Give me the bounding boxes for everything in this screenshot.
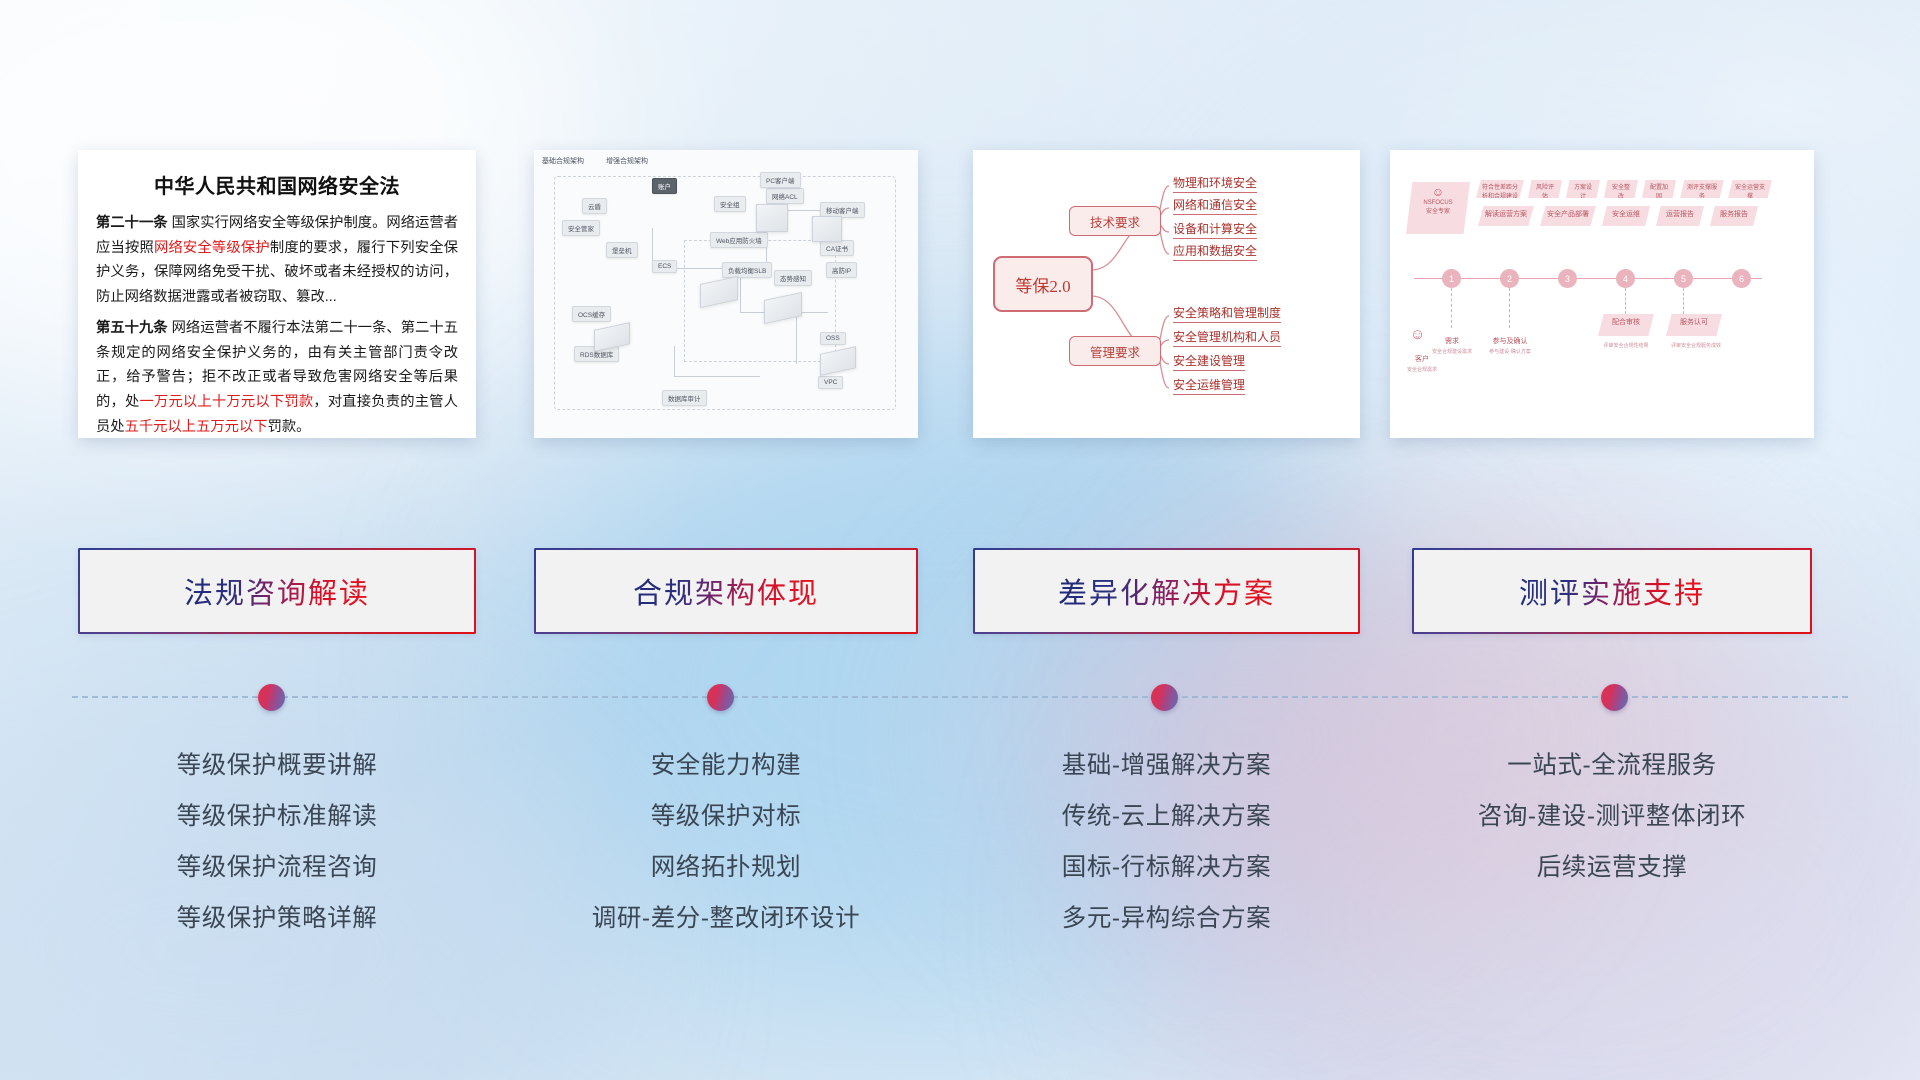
- column-compliance-architecture: 安全能力构建 等级保护对标 网络拓扑规划 调研-差分-整改闭环设计: [534, 740, 918, 944]
- card-compliance-architecture-diagram[interactable]: 基础合规架构 增强合规架构 账户 云盾 安全管家 堡垒机 安全组 网络ACL: [534, 150, 918, 438]
- mindmap-root-node: 等保2.0: [993, 256, 1093, 312]
- list-item: 调研-差分-整改闭环设计: [534, 893, 918, 944]
- arch-link-7: [796, 312, 797, 364]
- roadmap-top-4: 配置加固: [1642, 180, 1676, 198]
- detail-column-row: 等级保护概要讲解 等级保护标准解读 等级保护流程咨询 等级保护策略详解 安全能力…: [0, 740, 1920, 960]
- arch-node-title: 账户: [652, 178, 677, 194]
- roadmap-row-2: 安全运维: [1602, 206, 1650, 226]
- list-item: 传统-云上解决方案: [973, 791, 1360, 842]
- list-item: 咨询-建设-测评整体闭环: [1412, 791, 1812, 842]
- arch-shape-mobile: [812, 216, 842, 242]
- tab-label-2: 差异化解决方案: [1058, 570, 1275, 612]
- roadmap-drop-5: [1683, 288, 1684, 314]
- arch-shape-pc: [756, 204, 788, 232]
- law-title: 中华人民共和国网络安全法: [96, 170, 458, 199]
- roadmap-bottom-sub-3: 评审安全合规服务成效: [1656, 342, 1736, 349]
- arch-node-6: CA证书: [820, 240, 854, 256]
- mindmap-leaf-m1: 安全管理机构和人员: [1173, 328, 1281, 347]
- roadmap-drop-2: [1509, 288, 1510, 328]
- tab-label-3: 测评实施支持: [1519, 570, 1705, 612]
- mindmap-branch-management: 管理要求: [1069, 336, 1161, 366]
- mindmap-leaf-t1: 网络和通信安全: [1173, 196, 1257, 215]
- list-item: 等级保护标准解读: [78, 791, 476, 842]
- column-regulation-consulting: 等级保护概要讲解 等级保护标准解读 等级保护流程咨询 等级保护策略详解: [78, 740, 476, 944]
- architecture-diagram: 基础合规架构 增强合规架构 账户 云盾 安全管家 堡垒机 安全组 网络ACL: [534, 150, 918, 438]
- arch-node-0: 云盾: [582, 198, 607, 214]
- tab-assessment-support[interactable]: 测评实施支持: [1412, 548, 1812, 634]
- arch-header-basic: 基础合规架构: [542, 156, 584, 166]
- roadmap-top-1: 风险评估: [1528, 180, 1562, 198]
- law-article-59-text-c: 罚款。: [268, 419, 311, 435]
- roadmap-bottom-sub-2: 评审安全合规性结果: [1586, 342, 1666, 349]
- roadmap-row-3: 运营报告: [1656, 206, 1704, 226]
- law-article-21: 第二十一条 国家实行网络安全等级保护制度。网络运营者应当按照网络安全等级保护制度…: [96, 211, 458, 309]
- mindmap-branch-technical: 技术要求: [1069, 206, 1161, 236]
- list-item: 等级保护概要讲解: [78, 740, 476, 791]
- timeline-dot-3[interactable]: [1151, 684, 1178, 711]
- roadmap-top-5: 测评支撑服务: [1680, 180, 1724, 198]
- mindmap-leaf-m0: 安全策略和管理制度: [1173, 304, 1281, 323]
- roadmap-row-4: 服务报告: [1710, 206, 1758, 226]
- law-document: 中华人民共和国网络安全法 第二十一条 国家实行网络安全等级保护制度。网络运营者应…: [78, 150, 476, 438]
- customer-icon: ☺: [1410, 326, 1425, 343]
- arch-node-2: 堡垒机: [606, 242, 638, 258]
- tab-label-0: 法规咨询解读: [184, 570, 370, 612]
- mindmap-leaf-m3: 安全运维管理: [1173, 376, 1245, 395]
- preview-card-row: 中华人民共和国网络安全法 第二十一条 国家实行网络安全等级保护制度。网络运营者应…: [0, 150, 1920, 450]
- arch-node-15: 数据库审计: [662, 390, 707, 406]
- arch-node-4: 网络ACL: [766, 188, 804, 204]
- timeline: [0, 660, 1920, 720]
- arch-node-7: 高防IP: [826, 262, 857, 278]
- arch-node-12: VPC: [818, 376, 843, 389]
- arch-node-8: 态势感知: [774, 270, 812, 286]
- roadmap-diagram: ☺ NSFOCUS 安全专家 符合性差距分析和合规建设 风险评估 方案设计 安全…: [1390, 150, 1814, 438]
- roadmap-row-1: 安全产品部署: [1540, 206, 1596, 226]
- list-item: 等级保护流程咨询: [78, 842, 476, 893]
- tab-regulation-consulting[interactable]: 法规咨询解读: [78, 548, 476, 634]
- arch-link-9: [674, 376, 760, 377]
- arch-header-enhanced: 增强合规架构: [606, 156, 648, 166]
- column-assessment-support: 一站式-全流程服务 咨询-建设-测评整体闭环 后续运营支撑: [1412, 740, 1812, 893]
- roadmap-step-1: 1: [1442, 269, 1461, 288]
- roadmap-top-2: 方案设计: [1566, 180, 1600, 198]
- roadmap-bottom-title-1: 参与及确认: [1486, 336, 1534, 346]
- roadmap-bottom-title-3: 服务认可: [1666, 314, 1722, 336]
- roadmap-drop-4: [1625, 288, 1626, 314]
- person-star-icon: ☺: [1412, 186, 1464, 199]
- arch-node-13: OCS缓存: [572, 306, 611, 322]
- tab-row: 法规咨询解读 合规架构体现 差异化解决方案 测评实施支持: [0, 548, 1920, 634]
- list-item: 网络拓扑规划: [534, 842, 918, 893]
- roadmap-expert-line2: 安全专家: [1412, 208, 1464, 217]
- roadmap-customer-sub: 安全合规需求: [1396, 366, 1448, 373]
- page-root: 中华人民共和国网络安全法 第二十一条 国家实行网络安全等级保护制度。网络运营者应…: [0, 0, 1920, 1080]
- mindmap-leaf-t3: 应用和数据安全: [1173, 242, 1257, 261]
- list-item: 等级保护对标: [534, 791, 918, 842]
- roadmap-step-5: 5: [1674, 269, 1693, 288]
- law-article-21-highlight: 网络安全等级保护: [154, 240, 270, 256]
- column-differentiated-solution: 基础-增强解决方案 传统-云上解决方案 国标-行标解决方案 多元-异构综合方案: [973, 740, 1360, 944]
- tab-label-1: 合规架构体现: [633, 570, 819, 612]
- list-item: 国标-行标解决方案: [973, 842, 1360, 893]
- roadmap-expert-line1: NSFOCUS: [1412, 199, 1464, 208]
- roadmap-step-4: 4: [1616, 269, 1635, 288]
- tab-compliance-architecture[interactable]: 合规架构体现: [534, 548, 918, 634]
- roadmap-step-3: 3: [1558, 269, 1577, 288]
- law-article-59-highlight-2: 五千元以上五万元以下: [125, 419, 268, 435]
- law-article-59: 第五十九条 网络运营者不履行本法第二十一条、第二十五条规定的网络安全保护义务的，…: [96, 316, 458, 438]
- arch-node-1: 安全管家: [562, 220, 600, 236]
- mindmap-leaf-m2: 安全建设管理: [1173, 352, 1245, 371]
- roadmap-customer-label: 客户: [1402, 354, 1442, 364]
- timeline-dot-2[interactable]: [707, 684, 734, 711]
- mindmap-leaf-t2: 设备和计算安全: [1173, 220, 1257, 239]
- list-item: 多元-异构综合方案: [973, 893, 1360, 944]
- roadmap-top-0: 符合性差距分析和合规建设: [1476, 180, 1524, 198]
- list-item: 安全能力构建: [534, 740, 918, 791]
- law-article-59-label: 第五十九条: [96, 320, 168, 336]
- arch-node-10: 负载均衡SLB: [722, 262, 772, 278]
- arch-link-8: [674, 346, 675, 376]
- arch-node-16: PC客户端: [760, 172, 801, 188]
- roadmap-axis: [1414, 278, 1762, 279]
- roadmap-top-6: 安全运营支撑: [1728, 180, 1772, 198]
- timeline-dashed-line: [72, 696, 1848, 698]
- list-item: 基础-增强解决方案: [973, 740, 1360, 791]
- roadmap-bottom-sub-1: 参与建设·确认方案: [1478, 348, 1542, 355]
- mindmap-leaf-t0: 物理和环境安全: [1173, 174, 1257, 193]
- roadmap-step-2: 2: [1500, 269, 1519, 288]
- arch-node-11: OSS: [820, 332, 846, 345]
- law-article-59-highlight-1: 一万元以上十万元以下罚款: [139, 394, 313, 410]
- arch-node-5: Web应用防火墙: [710, 232, 768, 248]
- card-dengbao-mindmap[interactable]: 等保2.0 技术要求 管理要求 物理和环境安全 网络和通信安全 设备和计算安全 …: [973, 150, 1360, 438]
- card-nsfocus-roadmap[interactable]: ☺ NSFOCUS 安全专家 符合性差距分析和合规建设 风险评估 方案设计 安全…: [1390, 150, 1814, 438]
- roadmap-row-0: 解读运营方案: [1478, 206, 1534, 226]
- tab-differentiated-solution[interactable]: 差异化解决方案: [973, 548, 1360, 634]
- card-cybersecurity-law[interactable]: 中华人民共和国网络安全法 第二十一条 国家实行网络安全等级保护制度。网络运营者应…: [78, 150, 476, 438]
- timeline-dot-1[interactable]: [258, 684, 285, 711]
- timeline-dot-4[interactable]: [1601, 684, 1628, 711]
- roadmap-top-3: 安全整改: [1604, 180, 1638, 198]
- roadmap-bottom-sub-0: 安全合规建设需求: [1424, 348, 1480, 355]
- roadmap-expert-badge: ☺ NSFOCUS 安全专家: [1406, 182, 1470, 234]
- list-item: 一站式-全流程服务: [1412, 740, 1812, 791]
- roadmap-bottom-title-0: 需求: [1434, 336, 1470, 346]
- roadmap-drop-1: [1451, 288, 1452, 328]
- mindmap: 等保2.0 技术要求 管理要求 物理和环境安全 网络和通信安全 设备和计算安全 …: [973, 150, 1360, 438]
- law-article-21-label: 第二十一条: [96, 215, 168, 231]
- roadmap-step-6: 6: [1732, 269, 1751, 288]
- roadmap-bottom-title-2: 配合审核: [1598, 314, 1654, 336]
- list-item: 等级保护策略详解: [78, 893, 476, 944]
- list-item: 后续运营支撑: [1412, 842, 1812, 893]
- arch-node-9: ECS: [652, 260, 677, 273]
- arch-node-3: 安全组: [714, 196, 746, 212]
